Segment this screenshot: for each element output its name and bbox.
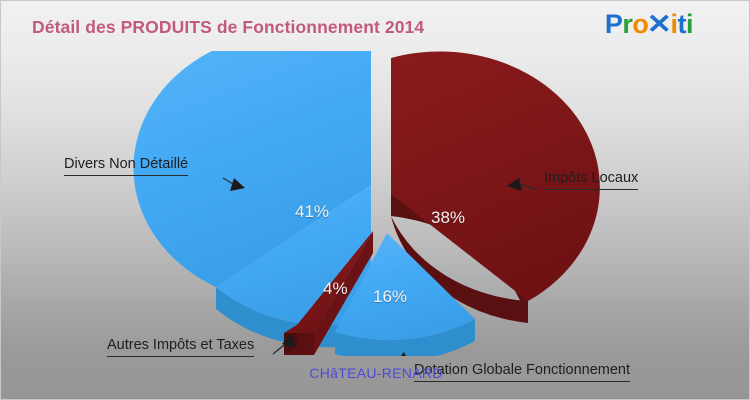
logo-letter-r: r — [622, 11, 632, 38]
logo-letter-t: t — [677, 11, 686, 38]
pie-value-label-divers: 41% — [295, 202, 329, 222]
commune-name: CHâTEAU-RENARD — [1, 365, 750, 381]
pie-value-label-autres: 4% — [323, 279, 348, 299]
pie-label-impots-locaux: Impôts Locaux — [544, 169, 638, 190]
pie-chart-svg — [1, 51, 750, 356]
pie-chart-plot-area: 41% 38% 16% 4% Divers Non Détaillé Impôt… — [1, 51, 750, 356]
proxiti-logo[interactable]: Pro✕iti — [605, 11, 693, 38]
pie-value-label-dotation: 16% — [373, 287, 407, 307]
chart-header: Détail des PRODUITS de Fonctionnement 20… — [1, 1, 750, 53]
pie-label-divers-non-detaille: Divers Non Détaillé — [64, 155, 188, 176]
logo-letter-p: P — [605, 11, 623, 38]
page-title: Détail des PRODUITS de Fonctionnement 20… — [32, 17, 424, 38]
pie-value-label-impots: 38% — [431, 208, 465, 228]
logo-letter-x-icon: ✕ — [647, 11, 672, 38]
pie-label-autres-impots-et-taxes: Autres Impôts et Taxes — [107, 336, 254, 357]
chart-page: Détail des PRODUITS de Fonctionnement 20… — [0, 0, 750, 400]
logo-letter-i2: i — [686, 11, 693, 38]
logo-letter-i1: i — [670, 11, 677, 38]
